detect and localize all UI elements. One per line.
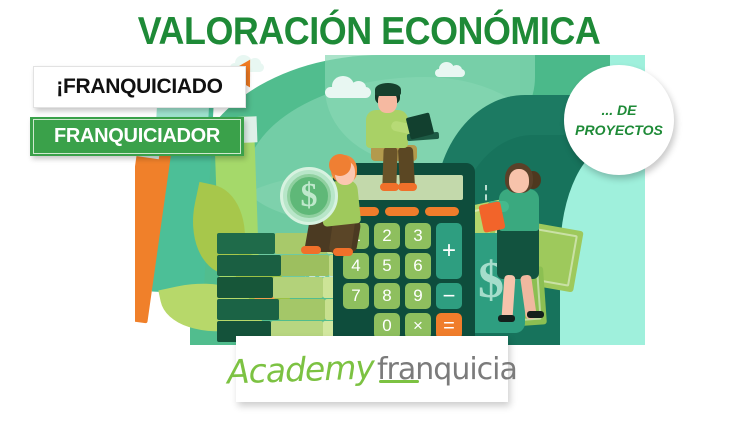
calculator-key-2: 2: [374, 223, 400, 249]
cloud-icon: [325, 87, 371, 98]
logo-academy-text: Academy: [226, 347, 374, 391]
man-laptop-shin: [382, 147, 397, 187]
calculator-key-−: −: [436, 283, 462, 309]
calculator-top-button: [385, 207, 419, 216]
calculator-top-button: [425, 207, 459, 216]
man-laptop-fringe: [375, 83, 401, 96]
woman-tablet-shoe: [498, 315, 515, 322]
woman-coin-shoe: [333, 248, 353, 256]
woman-coin-shoe: [301, 246, 321, 254]
dollar-sign-icon: $: [287, 172, 331, 220]
cloud-icon: [435, 69, 465, 77]
woman-coin-fringe: [329, 154, 351, 176]
money-bar: [217, 233, 275, 254]
woman-tablet-shoe: [527, 311, 544, 318]
banner-franquiciado[interactable]: ¡FRANQUICIADO: [33, 66, 246, 108]
man-laptop-shoe: [380, 183, 399, 191]
calculator-key-5: 5: [374, 253, 400, 279]
calculator-key-+: +: [436, 223, 462, 279]
page-title: VALORACIÓN ECONÓMICA: [30, 10, 709, 54]
calculator-key-7: 7: [343, 283, 369, 309]
logo-underline-accent: [379, 380, 419, 383]
money-bar: [217, 299, 279, 320]
badge-line-1: ... DE: [601, 100, 636, 120]
money-bar: [281, 255, 329, 276]
banner-franquiciado-label: ¡FRANQUICIADO: [56, 75, 222, 99]
calculator-key-9: 9: [405, 283, 431, 309]
money-bar: [217, 255, 281, 276]
logo-card[interactable]: Academy franquicia: [236, 336, 508, 402]
badge-de-proyectos[interactable]: ... DE PROYECTOS: [564, 65, 674, 175]
woman-tablet-skirt: [497, 227, 539, 279]
calculator-key-6: 6: [405, 253, 431, 279]
banner-franquiciador-label: FRANQUICIADOR: [33, 119, 241, 154]
money-bar: [273, 277, 323, 298]
calculator-key-3: 3: [405, 223, 431, 249]
logo-franquicia-wrap: franquicia: [374, 352, 517, 387]
banner-franquiciador[interactable]: FRANQUICIADOR: [30, 117, 244, 156]
calculator-key-4: 4: [343, 253, 369, 279]
calculator-key-8: 8: [374, 283, 400, 309]
money-bar: [217, 277, 273, 298]
badge-line-2: PROYECTOS: [575, 120, 663, 140]
woman-tablet-face: [509, 169, 529, 193]
man-laptop-shoe: [398, 183, 417, 191]
money-bar: [279, 299, 325, 320]
